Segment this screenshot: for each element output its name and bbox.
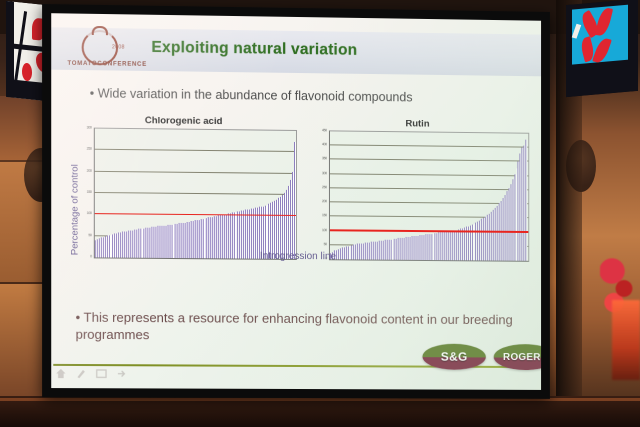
y-tick-label: 50 — [67, 233, 91, 237]
bullet-point-1: • Wide variation in the abundance of fla… — [90, 86, 510, 105]
plot-area — [94, 128, 297, 260]
chart-title: Chlorogenic acid — [67, 114, 299, 128]
lamp-glow — [612, 300, 640, 380]
bar — [294, 142, 296, 259]
plot-area — [329, 130, 529, 261]
chart-rutin: Rutin 050100150200250300350400450 — [303, 117, 531, 269]
y-tick-label: 150 — [303, 213, 327, 217]
sg-logo: S&G — [422, 344, 485, 370]
logo-year: 2008 — [112, 44, 125, 50]
y-tick-label: 50 — [303, 242, 327, 246]
y-tick-label: 150 — [67, 190, 91, 194]
sponsor-logos: S&G ROGERS — [422, 344, 541, 370]
conference-logo: 2008 TOMATOCONFERENCE — [67, 24, 148, 75]
bar-series — [95, 129, 296, 259]
rogers-logo: ROGERS — [494, 344, 541, 370]
slide-icon[interactable] — [96, 368, 107, 379]
home-icon[interactable] — [55, 368, 66, 379]
y-tick-labels: 050100150200250300350400450 — [303, 130, 327, 258]
y-tick-label: 100 — [303, 228, 327, 232]
y-tick-labels: 050100150200250300 — [67, 127, 91, 256]
y-tick-label: 250 — [303, 185, 327, 189]
y-tick-label: 100 — [67, 211, 91, 215]
y-tick-label: 350 — [303, 156, 327, 160]
bullet-point-2: • This represents a resource for enhanci… — [76, 309, 516, 346]
chart-chlorogenic-acid: Chlorogenic acid Percentage of control 0… — [67, 114, 299, 267]
pen-icon[interactable] — [76, 368, 87, 379]
sg-logo-label: S&G — [441, 350, 468, 364]
tomato-stem-icon — [92, 26, 108, 35]
presentation-slide[interactable]: 2008 TOMATOCONFERENCE Exploiting natural… — [51, 13, 541, 390]
y-tick-label: 450 — [303, 128, 327, 132]
y-tick-label: 300 — [303, 171, 327, 175]
logo-name: TOMATOCONFERENCE — [67, 61, 146, 68]
bar-series — [330, 131, 528, 260]
rogers-logo-label: ROGERS — [503, 352, 541, 363]
slide-nav-controls[interactable] — [55, 368, 127, 379]
stained-glass-window-right — [566, 0, 638, 97]
y-tick-label: 250 — [67, 147, 91, 151]
arrow-right-icon[interactable] — [116, 368, 127, 379]
y-tick-label: 200 — [67, 168, 91, 172]
y-tick-label: 400 — [303, 142, 327, 146]
y-tick-label: 200 — [303, 199, 327, 203]
projection-screen-frame: 2008 TOMATOCONFERENCE Exploiting natural… — [42, 4, 550, 399]
chart-title: Rutin — [303, 117, 531, 131]
bar — [526, 139, 528, 260]
slide-title: Exploiting natural variation — [151, 39, 357, 60]
y-tick-label: 300 — [67, 125, 91, 129]
